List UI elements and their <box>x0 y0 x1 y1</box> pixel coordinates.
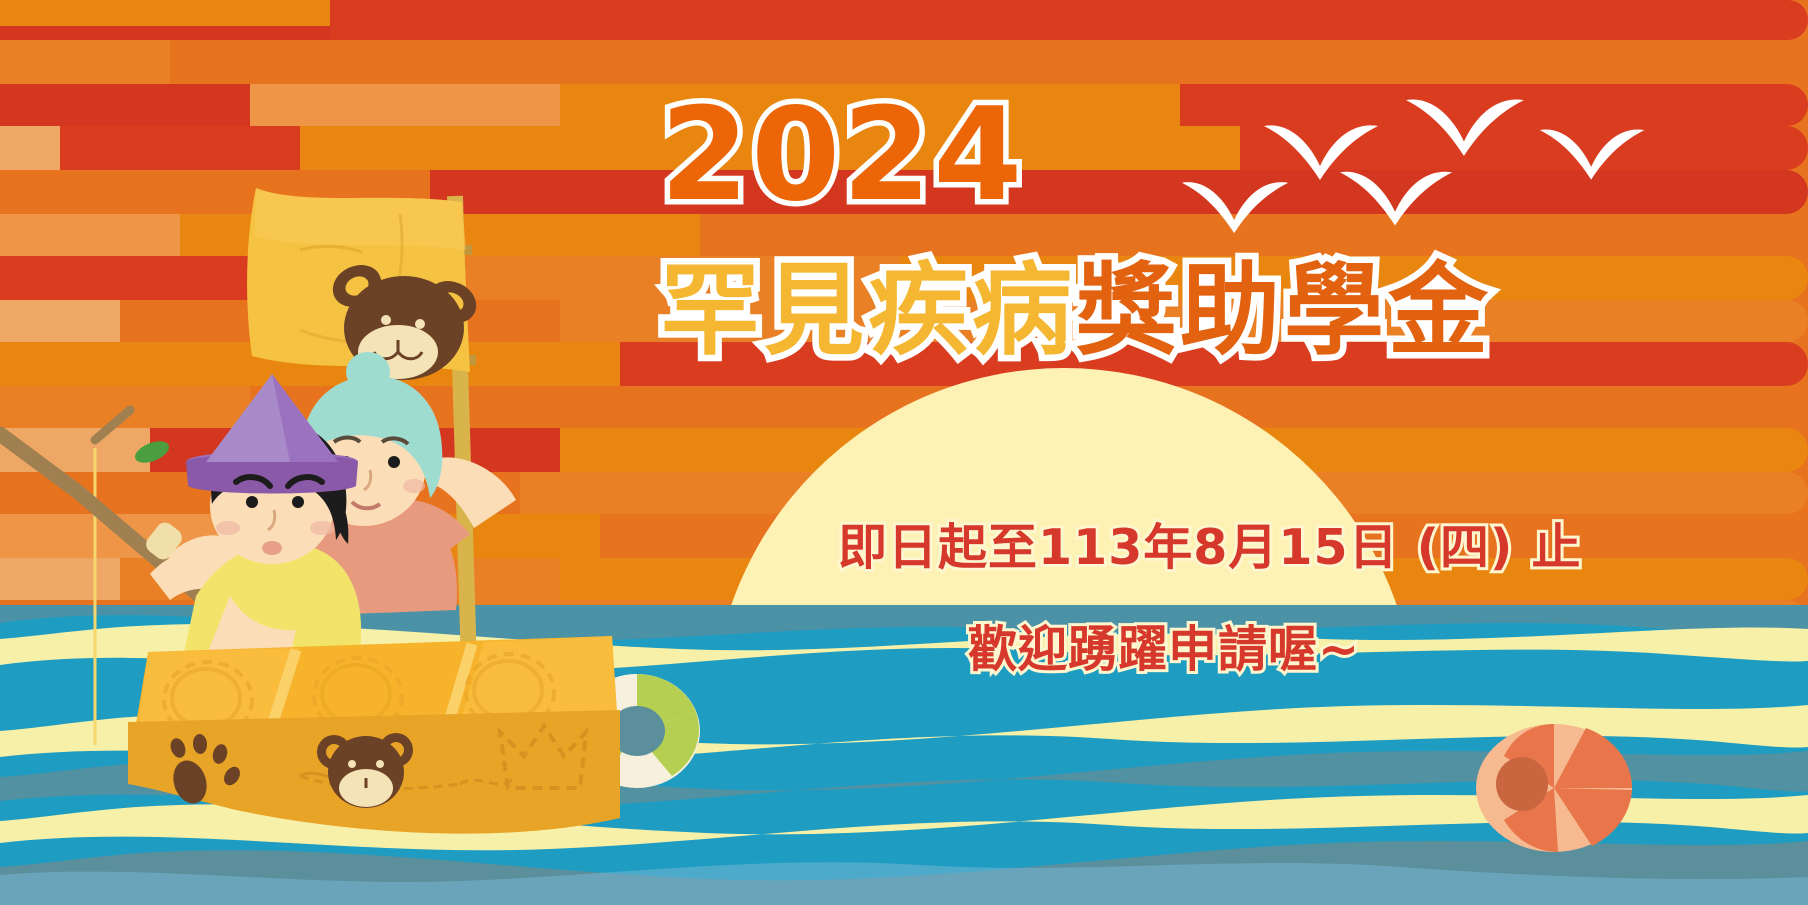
cardboard-boat-illustration <box>0 0 620 905</box>
application-deadline-text: 即日起至113年8月15日 (四) 止 <box>838 508 1581 579</box>
scholarship-promo-banner: 2024 罕見疾病獎助學金 即日起至113年8月15日 (四) 止 歡迎踴躍申請… <box>0 0 1808 905</box>
seagull-icon <box>1404 96 1528 158</box>
seagull-icon <box>1538 126 1648 182</box>
seagull-icon <box>1338 168 1456 228</box>
beach-ball-icon <box>1474 722 1634 854</box>
page-title: 罕見疾病獎助學金 <box>660 258 1492 363</box>
seagull-icon <box>1180 178 1292 236</box>
application-invitation-text: 歡迎踴躍申請喔~ <box>968 610 1360 681</box>
bear-flag-icon <box>247 188 483 380</box>
year-label: 2024 <box>660 92 1024 220</box>
title-segment-scholarship: 獎助學金 <box>1076 252 1492 369</box>
boat-hull <box>128 710 620 834</box>
title-segment-disease: 罕見疾病 <box>660 252 1076 369</box>
